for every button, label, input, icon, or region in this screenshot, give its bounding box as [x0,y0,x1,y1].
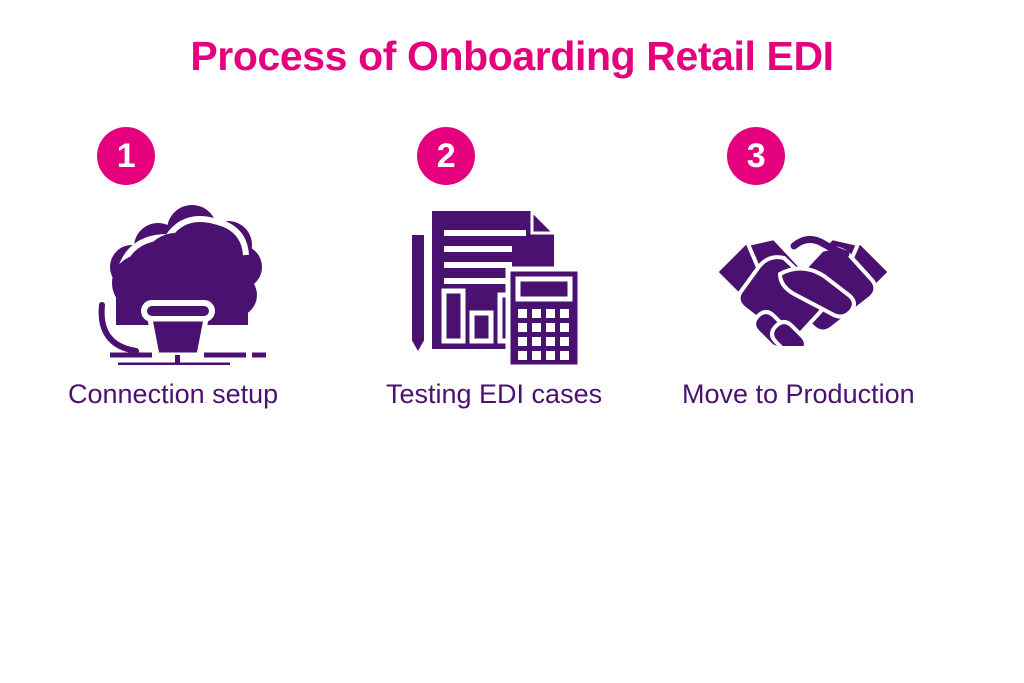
step-number-badge-2: 2 [417,127,475,185]
step-caption-3: Move to Production [672,378,972,410]
step-number-badge-1: 1 [97,127,155,185]
process-step-2: 2 [362,120,662,430]
step-caption-2: Testing EDI cases [362,378,662,410]
document-chart-calculator-icon [404,199,589,371]
process-steps-row: 1 [0,120,1024,430]
step-icon-2 [362,200,662,370]
process-step-3: 3 [672,120,972,430]
step-icon-3 [672,200,972,370]
handshake-icon [710,224,896,346]
process-step-1: 1 [42,120,342,430]
step-caption-1: Connection setup [42,378,342,410]
calculator-display [518,279,570,299]
infographic-canvas: Process of Onboarding Retail EDI 1 [0,0,1024,683]
page-title: Process of Onboarding Retail EDI [0,33,1024,80]
step-icon-1 [42,200,342,370]
step-number-badge-3: 3 [727,127,785,185]
cloud-plug-icon [80,205,270,365]
